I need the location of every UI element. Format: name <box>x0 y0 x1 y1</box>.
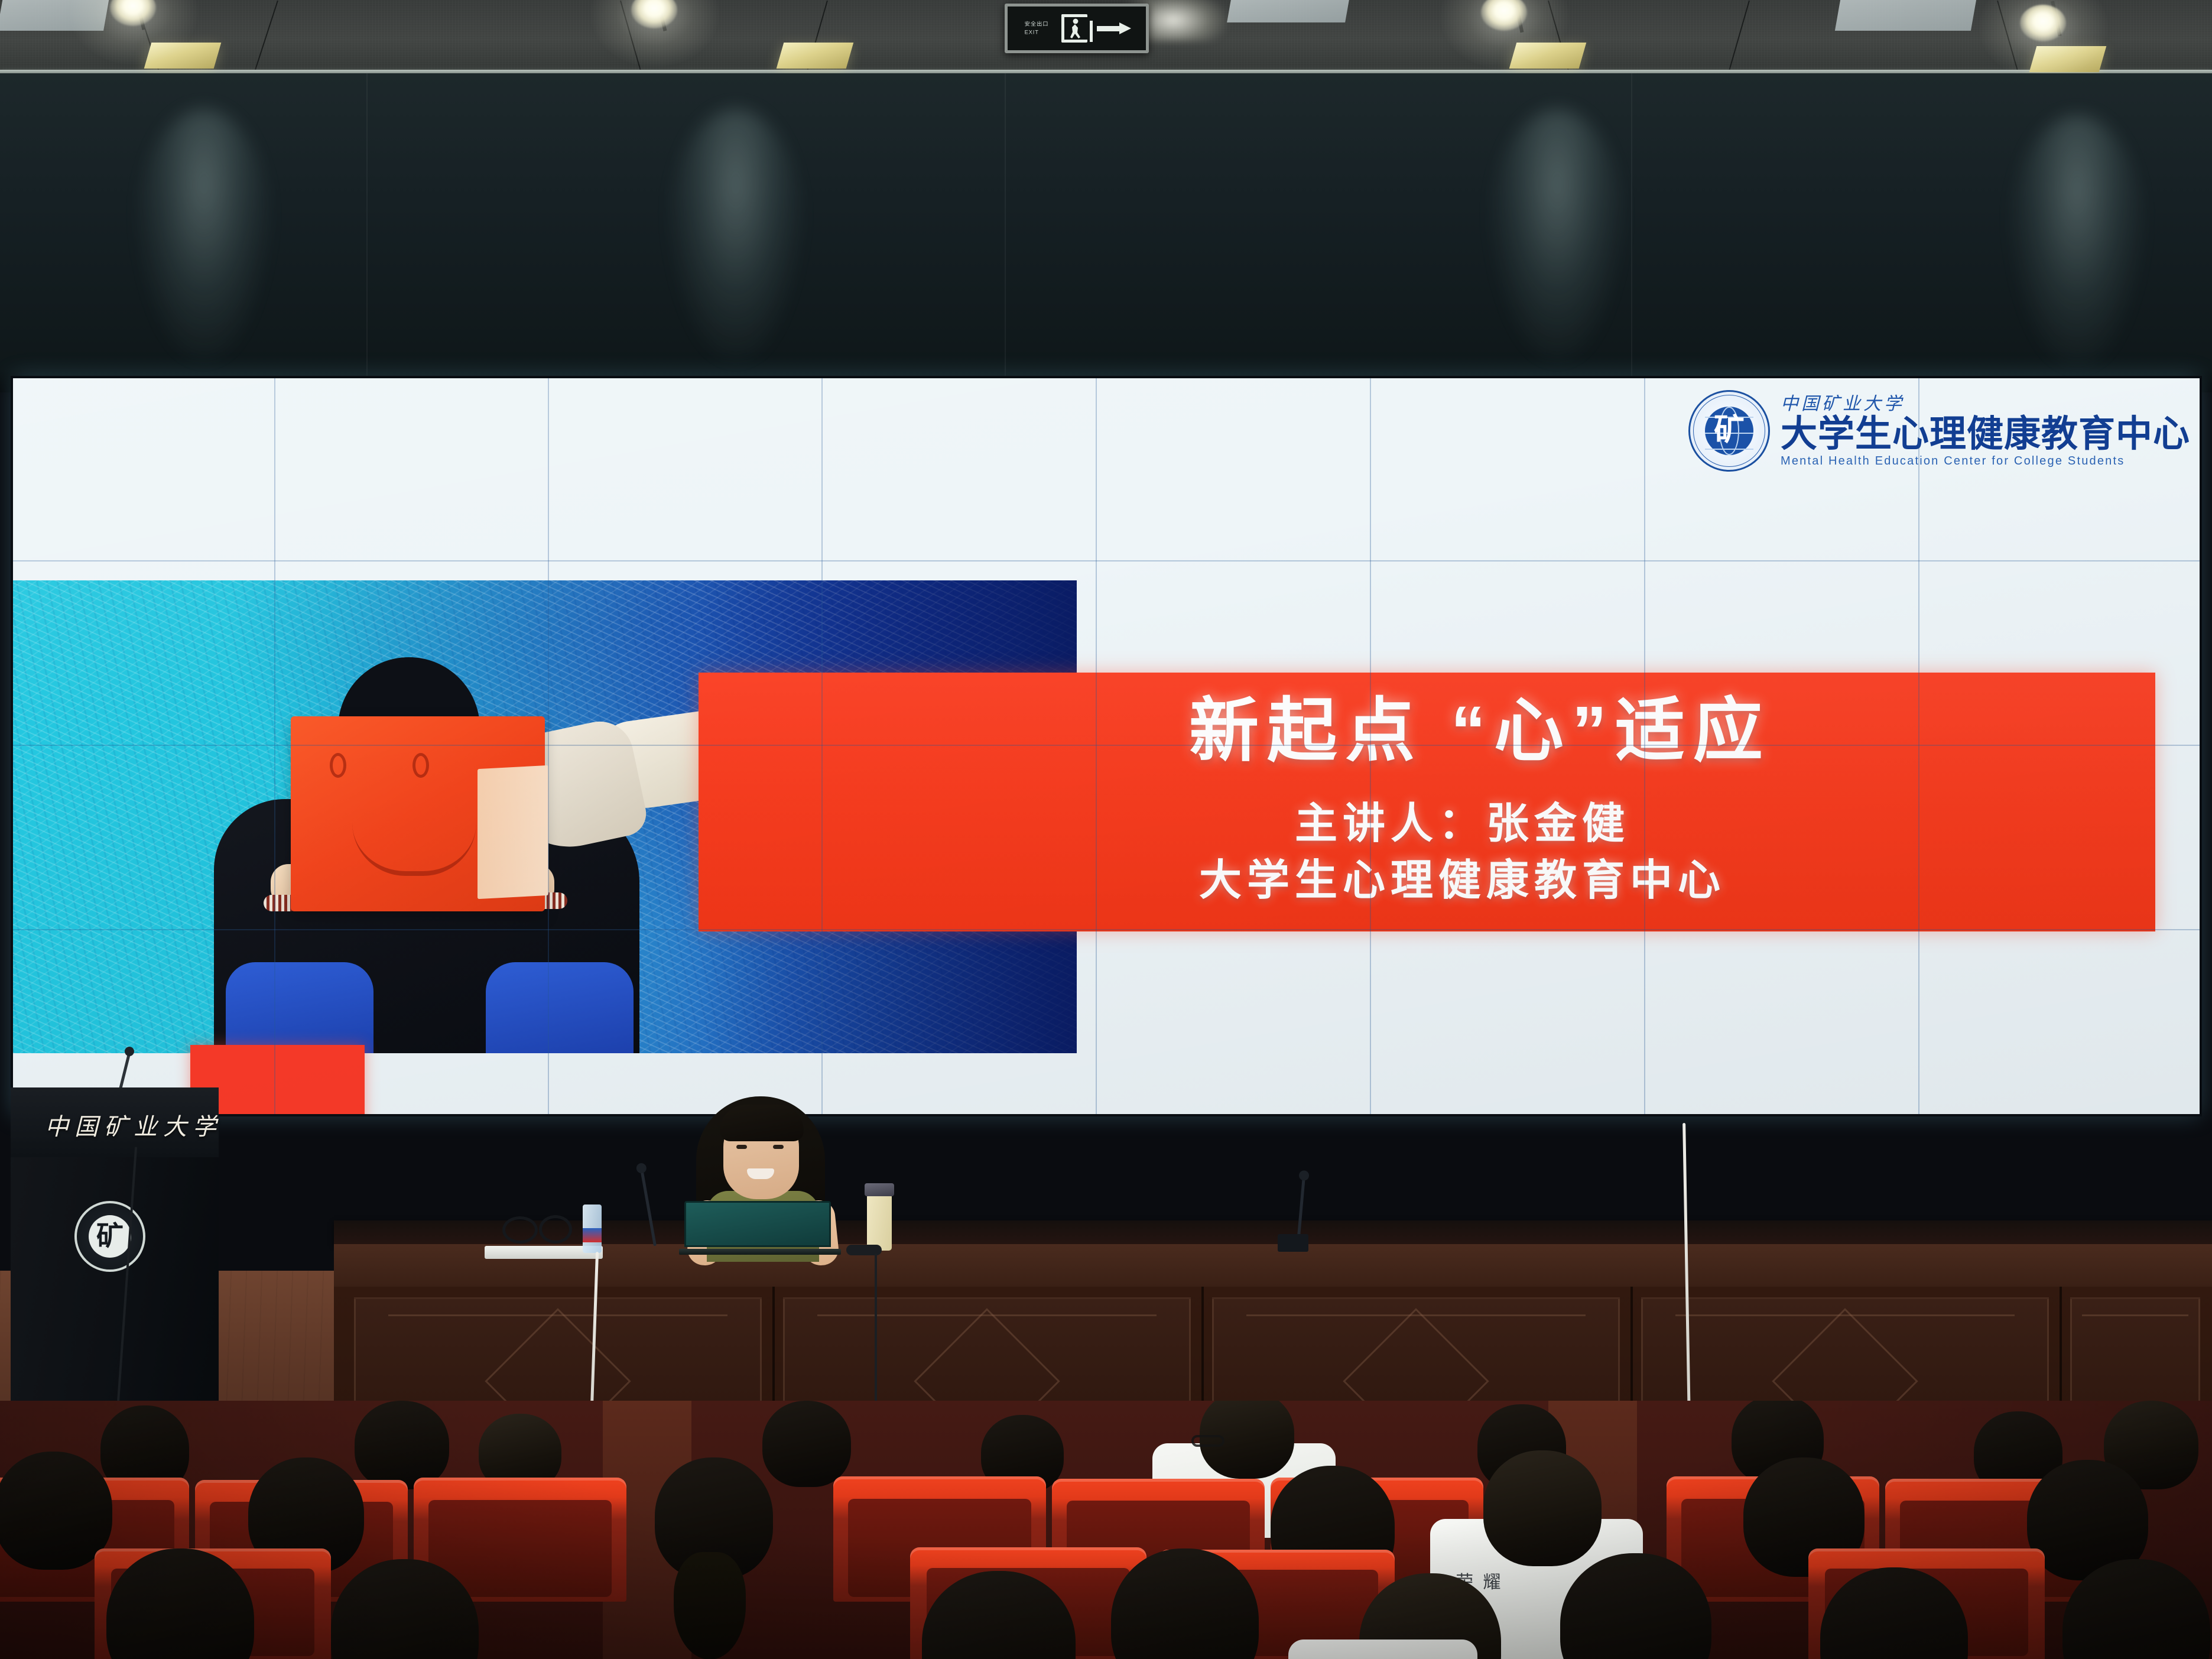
slide-organization: 大学生心理健康教育中心 <box>769 852 2155 909</box>
laptop-base <box>679 1249 841 1255</box>
exit-label-cn: 安全出口 <box>1025 21 1049 27</box>
podium-seal-glyph: 矿 <box>96 1223 124 1250</box>
wall-light-glow <box>1489 109 1625 363</box>
presenter-mouth <box>747 1168 774 1179</box>
mic-receiver-box <box>1278 1234 1308 1252</box>
audience-ponytail <box>674 1552 746 1659</box>
podium-seal-icon: 矿 <box>74 1201 145 1272</box>
running-person-glyph <box>1068 18 1083 43</box>
exit-sign-text: 安全出口 EXIT <box>1022 21 1051 36</box>
ceiling-spotlight <box>110 0 156 26</box>
audience-shirt <box>1288 1639 1477 1659</box>
ceiling-panel <box>1835 0 1977 31</box>
audience-head <box>1483 1450 1602 1566</box>
slide-title: 新起点 “心”适应 <box>699 695 2155 768</box>
university-seal-icon: 矿 <box>1688 390 1770 472</box>
presenter-fringe <box>720 1105 804 1141</box>
presentation-slide: 矿 中国矿业大学 大学生心理健康教育中心 Mental Health Educa… <box>13 378 2200 1114</box>
presenter-eye-left <box>736 1145 747 1149</box>
ceiling-panel <box>1227 0 1350 22</box>
audience-head <box>762 1401 851 1487</box>
center-logo: 矿 中国矿业大学 大学生心理健康教育中心 Mental Health Educa… <box>1688 390 2190 472</box>
photo-orange-smiley-book <box>291 716 545 911</box>
slide-red-band: 新起点 “心”适应 主讲人：张金健 大学生心理健康教育中心 <box>699 673 2155 931</box>
wall-light-glow <box>136 109 272 363</box>
thermos-cap <box>865 1183 894 1196</box>
thermos-bottle[interactable] <box>867 1194 892 1251</box>
photo-jeans-left <box>226 962 373 1053</box>
wall-light-glow <box>2009 115 2145 369</box>
book-smiley-mouth <box>352 823 476 876</box>
presenter-eye-right <box>773 1145 784 1149</box>
audience-head <box>0 1452 112 1570</box>
slide-speaker: 主讲人：张金健 <box>769 796 2155 852</box>
exit-label-en: EXIT <box>1025 30 1049 35</box>
book-smiley-eye-right <box>412 753 429 778</box>
lectern-podium[interactable]: 中国矿业大学 矿 <box>11 1087 219 1454</box>
table-surface <box>334 1220 2212 1244</box>
cable-coil <box>502 1216 538 1244</box>
logo-center-name: 大学生心理健康教育中心 <box>1781 415 2190 453</box>
audience-glasses <box>1191 1435 1224 1447</box>
water-bottle[interactable] <box>583 1205 602 1253</box>
wall-seam <box>366 73 368 392</box>
audience-head <box>355 1401 449 1489</box>
podium-university-name: 中国矿业大学 <box>45 1108 222 1142</box>
book-smiley-eye-left <box>330 753 346 778</box>
bottle-label <box>583 1228 602 1242</box>
ceiling-spotlight <box>1481 0 1527 31</box>
cable-coil <box>539 1215 572 1244</box>
presenter-laptop[interactable] <box>684 1201 831 1247</box>
logo-university-name: 中国矿业大学 <box>1781 394 2190 414</box>
tile-seam-h <box>13 560 2200 561</box>
logo-center-name-en: Mental Health Education Center for Colle… <box>1781 454 2190 467</box>
ceiling-spotlight <box>631 0 677 28</box>
running-person-exit-icon <box>1061 14 1087 43</box>
ceiling-spotlight <box>2020 5 2066 41</box>
table-apron <box>334 1244 2212 1287</box>
lecture-hall-photo: 安全出口 EXIT <box>0 0 2212 1659</box>
emergency-exit-sign: 安全出口 EXIT <box>1005 4 1149 53</box>
slide-subtitle-block: 主讲人：张金健 大学生心理健康教育中心 <box>699 796 2155 910</box>
wall-seam <box>1631 73 1632 392</box>
wall-light-glow <box>668 109 804 363</box>
seal-glyph: 矿 <box>1714 415 1745 446</box>
photo-person <box>190 651 675 1053</box>
photo-book-pages <box>478 765 548 899</box>
wall-seam <box>1005 73 1006 392</box>
ceiling-gold-trim <box>777 43 854 69</box>
panel-rail <box>2082 1314 2188 1316</box>
photo-jeans-right <box>486 962 634 1053</box>
audience-seating-area: 荣 耀 <box>0 1401 2212 1659</box>
led-video-wall[interactable]: 矿 中国矿业大学 大学生心理健康教育中心 Mental Health Educa… <box>13 378 2200 1114</box>
logo-text-block: 中国矿业大学 大学生心理健康教育中心 Mental Health Educati… <box>1781 394 2190 467</box>
arrow-right-icon <box>1097 22 1131 34</box>
back-wall <box>0 73 2212 392</box>
